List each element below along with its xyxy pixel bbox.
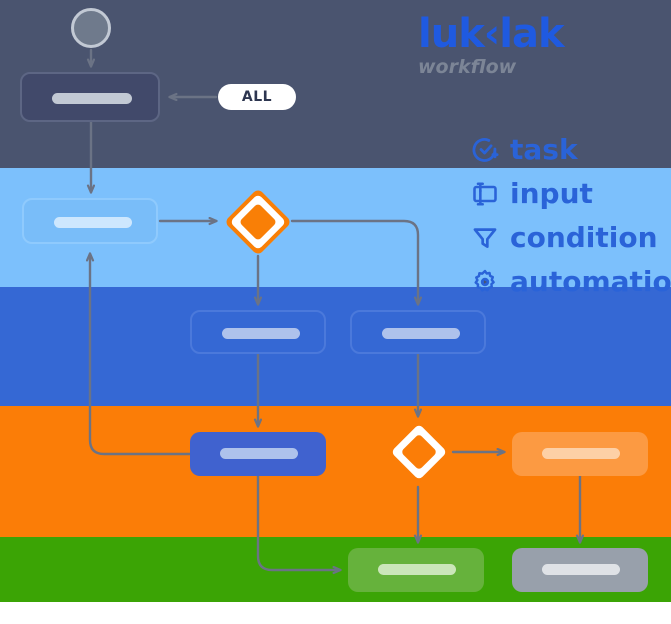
node-label-placeholder	[52, 93, 132, 104]
node-task-c[interactable]	[190, 432, 326, 476]
node-condition-1[interactable]	[219, 183, 297, 261]
node-automation[interactable]	[512, 432, 648, 476]
node-label-placeholder	[542, 448, 620, 459]
node-label-placeholder	[54, 217, 132, 228]
edge-taskC-done	[258, 476, 340, 570]
brand-subtitle: workflow	[418, 56, 658, 78]
edge-cond1-taskB	[292, 221, 418, 304]
node-label-placeholder	[378, 564, 456, 575]
node-trigger-task[interactable]	[20, 72, 160, 122]
node-done-task[interactable]	[348, 548, 484, 592]
node-task-a[interactable]	[190, 310, 326, 354]
node-input[interactable]	[22, 198, 158, 244]
badge-all[interactable]: ALL	[218, 84, 296, 110]
legend-label-condition: condition	[510, 223, 658, 253]
node-label-placeholder	[222, 328, 300, 339]
brand-block: luk‹lak workflow	[418, 14, 658, 78]
node-start-circle[interactable]	[71, 8, 111, 48]
legend-item-condition[interactable]: condition	[470, 216, 671, 260]
gear-icon	[470, 267, 500, 297]
badge-all-label: ALL	[242, 89, 272, 105]
brand-wordmark: luk‹lak	[418, 14, 658, 54]
filter-funnel-icon	[470, 223, 500, 253]
node-label-placeholder	[382, 328, 460, 339]
legend-label-automation: automation	[510, 267, 671, 297]
node-label-placeholder	[220, 448, 298, 459]
node-label-placeholder	[542, 564, 620, 575]
node-end-task[interactable]	[512, 548, 648, 592]
legend-item-task[interactable]: task	[470, 128, 671, 172]
check-circle-icon	[470, 135, 500, 165]
edge-taskC-input-loop	[90, 254, 190, 454]
legend-label-task: task	[510, 135, 578, 165]
form-input-icon	[470, 179, 500, 209]
legend-item-input[interactable]: input	[470, 172, 671, 216]
legend-label-input: input	[510, 179, 593, 209]
node-condition-2[interactable]	[381, 414, 457, 490]
workflow-diagram-canvas: ALL luk‹lak work	[0, 0, 671, 624]
legend-item-automation[interactable]: automation	[470, 260, 671, 304]
legend: task input condition	[470, 128, 671, 304]
node-task-b[interactable]	[350, 310, 486, 354]
